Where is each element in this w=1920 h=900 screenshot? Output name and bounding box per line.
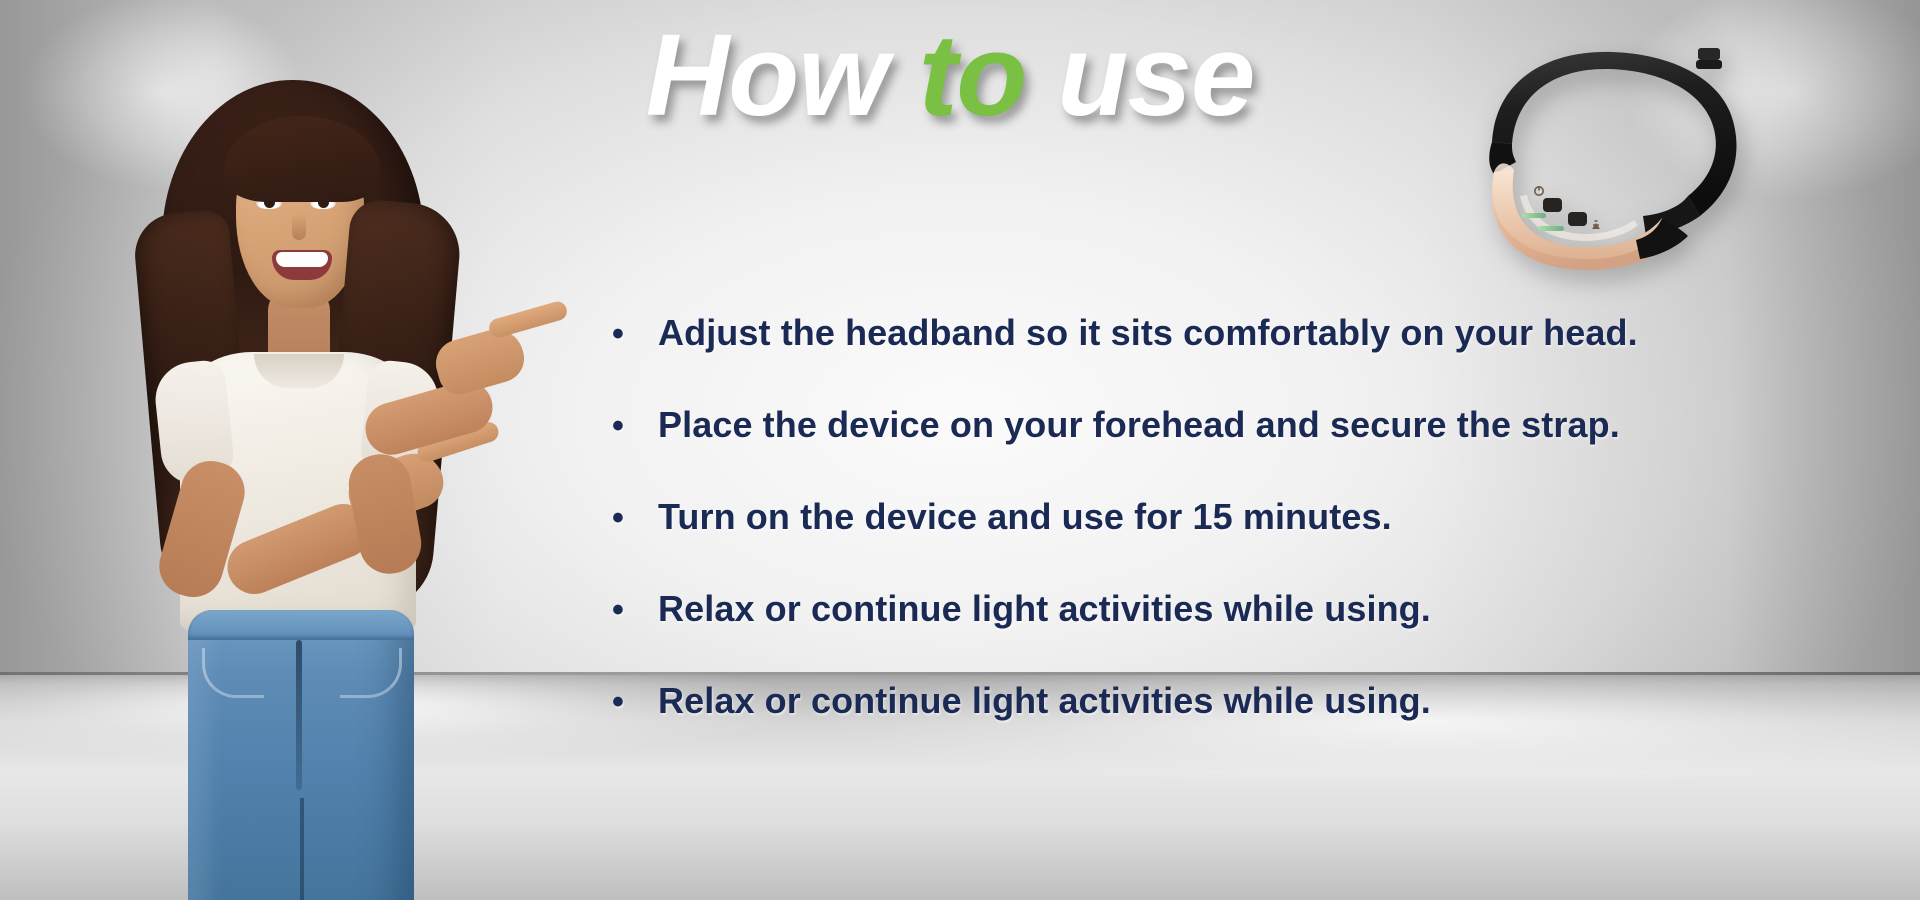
headband-device-svg: [1400, 20, 1800, 270]
jeans-fly: [296, 640, 302, 790]
pointing-finger-right: [487, 299, 569, 339]
title-part-1: How: [646, 10, 919, 140]
bullet-marker: •: [612, 409, 658, 443]
title-part-2: use: [1026, 10, 1254, 140]
mode-button[interactable]: [1568, 212, 1587, 226]
list-item-text: Relax or continue light activities while…: [658, 588, 1872, 630]
strap-adjuster-buckle: [1698, 48, 1720, 60]
led-indicator-1: [1522, 213, 1546, 218]
jeans-waistband: [188, 610, 414, 640]
vibration-icon: [1592, 218, 1600, 230]
list-item: • Adjust the headband so it sits comfort…: [612, 312, 1872, 354]
bullet-marker: •: [612, 685, 658, 719]
title-highlight: to: [919, 10, 1027, 140]
led-indicator-2: [1538, 226, 1564, 231]
studio-background: How to use: [0, 0, 1920, 900]
teeth: [276, 252, 328, 267]
list-item: • Relax or continue light activities whi…: [612, 588, 1872, 630]
list-item-text: Relax or continue light activities while…: [658, 680, 1872, 722]
bullet-marker: •: [612, 501, 658, 535]
headband-strap: [1492, 52, 1737, 216]
jeans-inseam: [300, 798, 304, 900]
list-item: • Relax or continue light activities whi…: [612, 680, 1872, 722]
list-item-text: Adjust the headband so it sits comfortab…: [658, 312, 1872, 354]
list-item: • Place the device on your forehead and …: [612, 404, 1872, 446]
list-item-text: Turn on the device and use for 15 minute…: [658, 496, 1872, 538]
power-button[interactable]: [1543, 198, 1562, 212]
headband-device-image: [1400, 20, 1800, 270]
nose: [292, 214, 306, 240]
page-title: How to use: [520, 14, 1380, 137]
list-item-text: Place the device on your forehead and se…: [658, 404, 1872, 446]
list-item: • Turn on the device and use for 15 minu…: [612, 496, 1872, 538]
instructions-list: • Adjust the headband so it sits comfort…: [612, 312, 1872, 772]
strap-adjuster-loop: [1696, 60, 1722, 69]
smiling-mouth: [272, 250, 332, 280]
bullet-marker: •: [612, 317, 658, 351]
power-icon: [1535, 186, 1543, 195]
model-photo-smiling-woman-pointing: [96, 62, 526, 900]
bullet-marker: •: [612, 593, 658, 627]
